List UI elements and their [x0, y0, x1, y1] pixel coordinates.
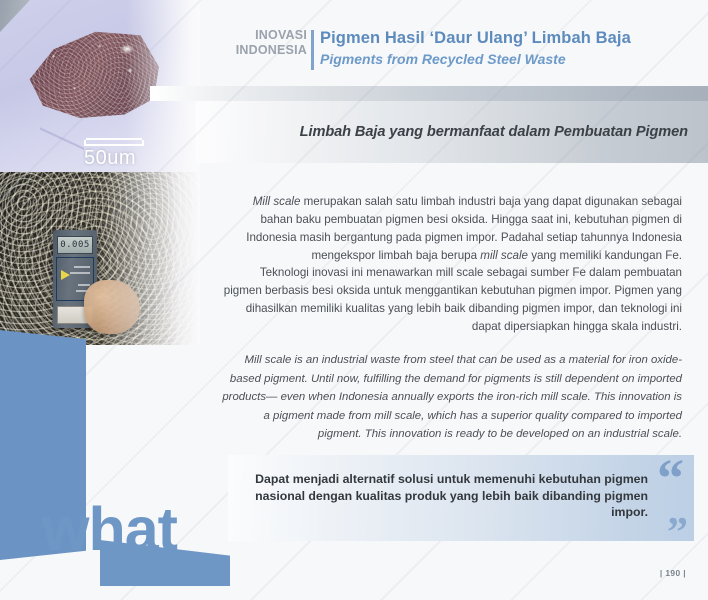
subheadline-top-band: [150, 86, 708, 101]
meter-label-line: [78, 284, 90, 286]
paragraph-id-1: Mill scale merupakan salah satu limbah i…: [220, 193, 682, 265]
page-title-id: Pigmen Hasil ‘Daur Ulang’ Limbah Baja: [320, 28, 631, 49]
meter-play-icon: [61, 270, 70, 280]
meter-label-line: [70, 272, 90, 274]
section-word-what: what: [42, 499, 177, 560]
quote-open-mark-icon: “: [657, 451, 682, 505]
paragraph-en: Mill scale is an industrial waste from s…: [220, 351, 682, 444]
page-title-en: Pigments from Recycled Steel Waste: [320, 50, 631, 68]
page-canvas: 50um 0.005 what: [0, 0, 708, 600]
slide-scratch: [40, 118, 84, 158]
brand-line-inovasi: INOVASI: [221, 28, 307, 43]
meter-lcd-screen: 0.005: [57, 236, 93, 254]
subheadline-text: Limbah Baja yang bermanfaat dalam Pembua…: [196, 101, 688, 163]
brand-lockup: INOVASI INDONESIA: [221, 28, 307, 58]
header-title-group: Pigmen Hasil ‘Daur Ulang’ Limbah Baja Pi…: [320, 28, 631, 68]
quote-text: Dapat menjadi alternatif solusi untuk me…: [236, 471, 648, 521]
photo-column: 50um 0.005: [0, 0, 221, 345]
page-number: | 190 |: [660, 568, 686, 578]
photo-handheld-meter: 0.005: [0, 172, 200, 345]
paragraph-id-2: Teknologi inovasi ini menawarkan mill sc…: [220, 264, 682, 336]
meter-reading-value: 0.005: [60, 240, 90, 250]
photo-right-fade: [100, 172, 200, 345]
brand-line-indonesia: INDONESIA: [221, 43, 307, 58]
quote-close-mark-icon: ”: [667, 512, 686, 554]
meter-label-line: [74, 266, 90, 268]
header-divider-rule: [311, 30, 314, 70]
